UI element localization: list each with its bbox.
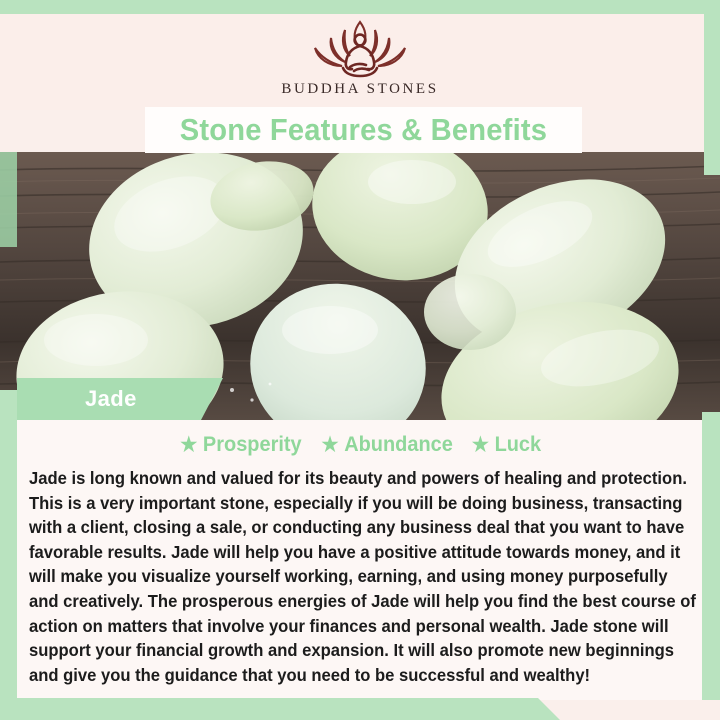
frame-top-accent [0,0,720,14]
frame-bottom-accent [0,698,560,720]
benefit-item-luck: ★ Luck [471,433,540,457]
lotus-meditation-icon [301,18,419,80]
brand-logo: BUDDHA STONES [281,18,438,98]
star-icon: ★ [181,435,198,455]
frame-left-photo-accent [0,152,17,247]
brand-name: BUDDHA STONES [281,81,438,98]
star-icon: ★ [322,435,339,455]
stone-name-label: Jade [85,386,137,412]
page-title: Stone Features & Benefits [180,112,547,148]
stone-name-band: Jade [17,378,223,420]
frame-left-lower-accent [0,390,17,700]
benefit-label: Abundance [344,433,453,457]
title-banner: Stone Features & Benefits [145,107,582,153]
star-icon: ★ [471,435,488,455]
benefit-label: Luck [494,433,541,457]
frame-right-lower-accent [702,412,720,700]
description-text: Jade is long known and valued for its be… [29,466,698,687]
infographic-page: BUDDHA STONES [0,0,720,720]
description-panel: ★ Prosperity ★ Abundance ★ Luck Jade is … [17,420,703,700]
benefits-row: ★ Prosperity ★ Abundance ★ Luck [17,428,703,462]
frame-right-accent [704,0,720,175]
benefit-item-prosperity: ★ Prosperity [181,433,302,457]
brand-header: BUDDHA STONES [0,14,720,110]
benefit-label: Prosperity [203,433,302,457]
benefit-item-abundance: ★ Abundance [322,433,453,457]
